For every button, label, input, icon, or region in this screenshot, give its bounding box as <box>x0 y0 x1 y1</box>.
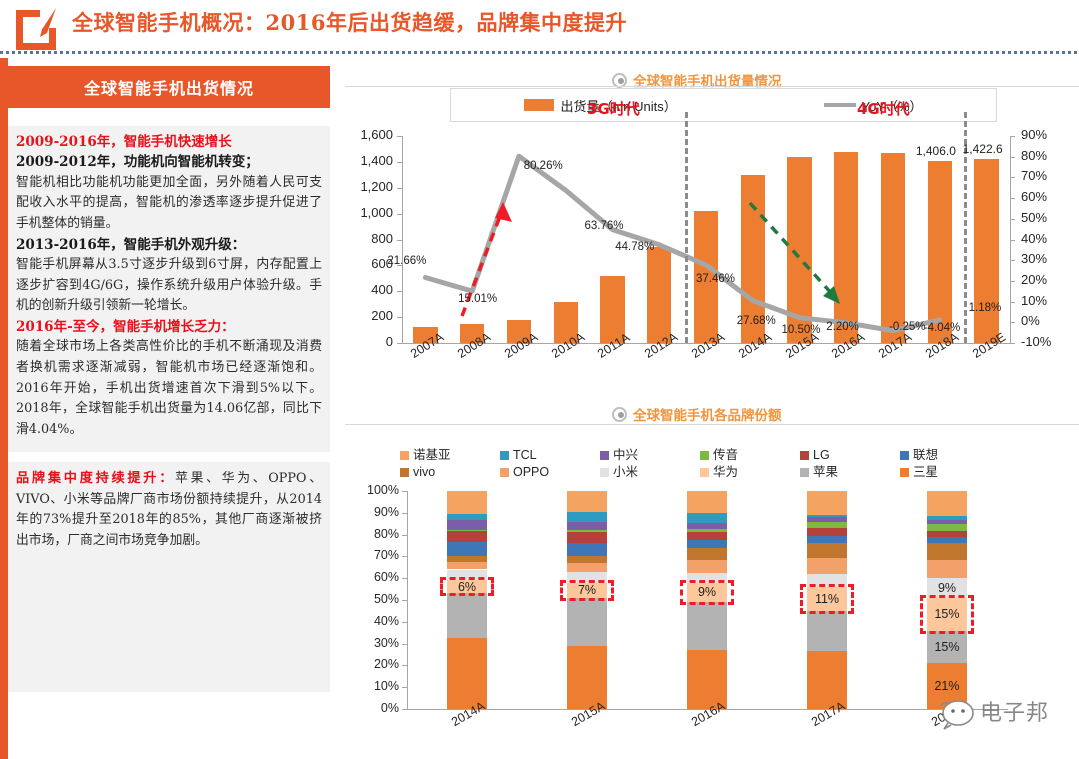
chart2-ytick: 60% <box>351 570 399 584</box>
chart2-legend-label: 诺基亚 <box>413 447 451 464</box>
chart1-ytick-left: 0 <box>345 334 393 349</box>
panel-b-text: 品牌集中度持续提升：苹果、华为、OPPO、VIVO、小米等品牌厂商市场份额持续提… <box>16 468 322 552</box>
chart2-legend-item: 诺基亚 <box>400 447 500 464</box>
chart2-bar-segment <box>807 611 847 651</box>
chart2-stacked-bar: 9% <box>687 491 727 709</box>
chart2-ytick: 40% <box>351 614 399 628</box>
chart2-legend-label: 华为 <box>713 464 738 481</box>
sidebar-title: 全球智能手机出货情况 <box>8 66 330 108</box>
chart1-ytick-left: 400 <box>345 282 393 297</box>
chart2-header: 全球智能手机各品牌份额 <box>612 404 782 424</box>
chart2-legend-label: 传音 <box>713 447 738 464</box>
legend-swatch-icon <box>500 451 509 460</box>
chart1-ytick-right: 90% <box>1021 127 1047 142</box>
chart1-axis-line <box>1010 136 1011 343</box>
chart2-legend-label: 中兴 <box>613 447 638 464</box>
panel-a-sub1: 2009-2012年，功能机向智能机转变； <box>16 152 322 172</box>
chart1-era-label: 3G时代 <box>587 98 640 119</box>
chart2-bar-segment <box>687 523 727 530</box>
chart1-ytick-right: 10% <box>1021 293 1047 308</box>
chart2-bar-segment <box>567 543 607 556</box>
chart2-bar-segment <box>807 517 847 521</box>
chart2-bar-segment <box>927 524 967 532</box>
chart1-legend: 出货量（mn Units） YoY（%） <box>450 88 997 122</box>
chart2-ytick: 90% <box>351 505 399 519</box>
chart1-title: 全球智能手机出货量情况 <box>633 70 782 90</box>
sidebar-accent-band <box>0 58 8 759</box>
panel-b-lead: 品牌集中度持续提升： <box>16 471 175 486</box>
chart2-legend-row: 诺基亚TCL中兴传音LG联想 <box>400 447 1000 464</box>
chart2-legend-label: TCL <box>513 447 537 464</box>
chart2-title: 全球智能手机各品牌份额 <box>633 404 782 424</box>
sidebar-panel-concentration: 品牌集中度持续提升：苹果、华为、OPPO、VIVO、小米等品牌厂商市场份额持续提… <box>8 462 330 692</box>
pencil-edit-icon <box>12 6 60 50</box>
chart2-highlight-box <box>920 595 974 634</box>
chart2-ytick: 30% <box>351 636 399 650</box>
chart1-ytick-left: 1,200 <box>345 179 393 194</box>
chart2-legend-item: 华为 <box>700 464 800 481</box>
chart1-ytick-left: 800 <box>345 231 393 246</box>
chart2-bar-segment <box>687 602 727 650</box>
chart2-legend-label: 联想 <box>913 447 938 464</box>
legend-swatch-bar-icon <box>524 99 554 111</box>
chart1-yoy-label: 21.66% <box>387 255 426 267</box>
chart2-legend: 诺基亚TCL中兴传音LG联想vivoOPPO小米华为苹果三星 <box>400 447 1000 481</box>
chart2-bar-segment <box>687 513 727 523</box>
shipments-chart: 出货量（mn Units） YoY（%） 3G时代4G时代21.66%15.01… <box>345 88 1079 388</box>
chart1-header-rule <box>345 86 1079 87</box>
chart1-plot-area: 3G时代4G时代21.66%15.01%80.26%63.76%44.78%37… <box>402 136 1010 343</box>
chart2-bar-segment <box>447 638 487 709</box>
chart1-yoy-label: 63.76% <box>584 220 623 232</box>
chart2-legend-label: vivo <box>413 464 435 481</box>
wechat-face-icon <box>938 691 982 731</box>
chart2-bar-segment <box>687 491 727 513</box>
chart2-bar-segment <box>807 515 847 517</box>
chart2-ytick: 80% <box>351 527 399 541</box>
chart2-ytick: 50% <box>351 592 399 606</box>
chart2-legend-item: OPPO <box>500 464 600 481</box>
chart1-ytick-left: 1,400 <box>345 153 393 168</box>
chart2-bar-segment <box>927 516 967 520</box>
chart1-ytick-left: 200 <box>345 308 393 323</box>
chart1-axis-line <box>402 136 403 343</box>
legend-swatch-icon <box>400 468 409 477</box>
chart1-ytick-left: 600 <box>345 256 393 271</box>
chart2-stacked-bar: 6% <box>447 491 487 709</box>
chart1-yoy-label: 27.68% <box>737 315 776 327</box>
chart2-stacked-bar: 21%15%15%9% <box>927 491 967 709</box>
chart2-legend-item: 小米 <box>600 464 700 481</box>
chart2-bar-segment <box>687 532 727 540</box>
chart2-axis-line <box>407 491 408 709</box>
chart2-bar-segment <box>807 558 847 574</box>
chart2-bar-segment <box>447 531 487 542</box>
chart2-bar-segment <box>687 529 727 532</box>
chart2-legend-label: 小米 <box>613 464 638 481</box>
chart2-bar-segment <box>567 522 607 531</box>
chart2-bar-segment <box>687 560 727 573</box>
panel-a-heading2: 2016年-至今，智能手机增长乏力： <box>16 317 322 337</box>
panel-a-body3: 随着全球市场上各类高性价比的手机不断涌现及消费者换机需求逐渐减弱，智能机市场已经… <box>16 337 322 441</box>
chart2-bar-segment <box>927 491 967 516</box>
chart2-legend-label: 三星 <box>913 464 938 481</box>
chart1-ytick-right: 40% <box>1021 231 1047 246</box>
legend-swatch-icon <box>900 468 909 477</box>
legend-swatch-icon <box>800 468 809 477</box>
chart1-yoy-label: 1.18% <box>969 302 1002 314</box>
chart2-bar-segment <box>687 540 727 548</box>
legend-swatch-line-icon <box>824 103 856 107</box>
chart2-bar-segment <box>447 556 487 561</box>
legend-swatch-icon <box>700 451 709 460</box>
chart2-bar-segment <box>807 491 847 515</box>
legend-swatch-icon <box>800 451 809 460</box>
chart2-bar-segment <box>447 542 487 556</box>
chart2-stacked-bar: 7% <box>567 491 607 709</box>
chart2-ytick: 20% <box>351 657 399 671</box>
legend-swatch-icon <box>600 468 609 477</box>
chart2-ytick: 10% <box>351 679 399 693</box>
chart1-yoy-label: 80.26% <box>524 160 563 172</box>
chart1-ytick-right: -10% <box>1021 334 1051 349</box>
sidebar-panel-growth: 2009-2016年，智能手机快速增长 2009-2012年，功能机向智能机转变… <box>8 126 330 452</box>
chart1-ytick-left: 1,000 <box>345 205 393 220</box>
legend-swatch-icon <box>400 451 409 460</box>
chart2-bar-segment <box>807 543 847 557</box>
chart2-bar-segment <box>567 532 607 543</box>
chart1-bar-label: 1,422.6 <box>963 142 1003 156</box>
chart2-bar-segment <box>567 491 607 512</box>
chart1-yoy-line <box>402 136 1010 343</box>
chart1-ytick-right: 80% <box>1021 148 1047 163</box>
chart2-bar-segment <box>927 531 967 536</box>
chart2-bar-segment <box>567 563 607 572</box>
chart1-era-divider-3g <box>685 112 688 343</box>
chart1-ytick-right: 30% <box>1021 251 1047 266</box>
chart1-ytick-left: 1,600 <box>345 127 393 142</box>
panel-a-body1: 智能机相比功能机功能更加全面，另外随着人民可支配收入水平的提高，智能机的渗透率逐… <box>16 173 322 235</box>
chart2-legend-item: vivo <box>400 464 500 481</box>
chart2-bar-segment <box>447 491 487 514</box>
chart2-legend-item: 传音 <box>700 447 800 464</box>
chart1-ytick-right: 70% <box>1021 168 1047 183</box>
chart2-legend-item: LG <box>800 447 900 464</box>
chart1-bar-label: 1,406.0 <box>916 144 956 158</box>
legend-swatch-icon <box>700 468 709 477</box>
chart1-ytick-right: 0% <box>1021 313 1040 328</box>
chart2-bar-segment <box>807 536 847 544</box>
chart1-ytick-right: 60% <box>1021 189 1047 204</box>
header-divider <box>0 51 1079 54</box>
chart2-bar-segment <box>447 520 487 530</box>
chart1-ytick-right: 20% <box>1021 272 1047 287</box>
chart2-legend-item: 苹果 <box>800 464 900 481</box>
chart2-bar-segment <box>447 593 487 638</box>
chart1-yoy-label: 44.78% <box>615 241 654 253</box>
chart1-header: 全球智能手机出货量情况 <box>612 70 782 90</box>
chart2-bar-segment <box>927 560 967 579</box>
watermark: 电子邦 <box>938 691 1073 739</box>
slide-page: 全球智能手机概况：2016年后出货趋缓，品牌集中度提升 全球智能手机出货情况 2… <box>0 0 1079 759</box>
chart2-highlight-box <box>440 577 494 596</box>
chart2-legend-label: OPPO <box>513 464 549 481</box>
chart2-legend-label: 苹果 <box>813 464 838 481</box>
chart1-yoy-label: 37.46% <box>696 273 735 285</box>
panel-a-heading: 2009-2016年，智能手机快速增长 <box>16 132 322 152</box>
chart2-bar-segment <box>447 514 487 521</box>
legend-swatch-icon <box>900 451 909 460</box>
chart2-bar-segment <box>567 556 607 563</box>
chart2-bar-segment: 15% <box>927 631 967 664</box>
chart2-bar-segment <box>687 548 727 560</box>
legend-swatch-icon <box>500 468 509 477</box>
page-title: 全球智能手机概况：2016年后出货趋缓，品牌集中度提升 <box>72 7 627 37</box>
chart2-bar-segment <box>807 528 847 536</box>
chart2-ytick: 70% <box>351 548 399 562</box>
panel-a-sub2: 2013-2016年，智能手机外观升级： <box>16 235 322 255</box>
chart1-yoy-label: 2.20% <box>826 321 859 333</box>
chart2-plot-area: 6%7%9%11%21%15%15%9% <box>407 491 1007 709</box>
chart2-legend-item: 联想 <box>900 447 1000 464</box>
chart2-highlight-box <box>800 584 854 614</box>
chart2-bar-segment <box>447 530 487 531</box>
chart2-bar-segment <box>567 512 607 522</box>
chart2-bar-segment <box>927 520 967 523</box>
chart2-legend-item: TCL <box>500 447 600 464</box>
chart2-legend-item: 三星 <box>900 464 1000 481</box>
panel-a-body2: 智能手机屏幕从3.5寸逐步升级到6寸屏，内存配置上逐步扩容到4G/6G，操作系统… <box>16 255 322 317</box>
chart1-era-label: 4G时代 <box>857 98 910 119</box>
page-header: 全球智能手机概况：2016年后出货趋缓，品牌集中度提升 <box>0 0 1079 58</box>
target-dot-icon <box>612 407 627 422</box>
chart2-legend-label: LG <box>813 447 830 464</box>
chart1-ytick-right: 50% <box>1021 210 1047 225</box>
chart2-bar-segment <box>927 537 967 544</box>
chart2-bar-segment <box>567 598 607 646</box>
watermark-text: 电子邦 <box>980 695 1049 727</box>
chart2-bar-segment <box>447 562 487 570</box>
legend-swatch-icon <box>600 451 609 460</box>
chart1-yoy-label: 15.01% <box>458 293 497 305</box>
chart2-ytick: 0% <box>351 701 399 715</box>
chart2-bar-segment <box>927 543 967 559</box>
chart2-legend-item: 中兴 <box>600 447 700 464</box>
chart2-ytick: 100% <box>351 483 399 497</box>
chart2-bar-segment <box>567 530 607 532</box>
chart2-stacked-bar: 11% <box>807 491 847 709</box>
chart2-highlight-box <box>680 580 734 606</box>
chart2-bar-segment <box>807 522 847 529</box>
chart2-highlight-box <box>560 580 614 601</box>
chart2-legend-row: vivoOPPO小米华为苹果三星 <box>400 464 1000 481</box>
